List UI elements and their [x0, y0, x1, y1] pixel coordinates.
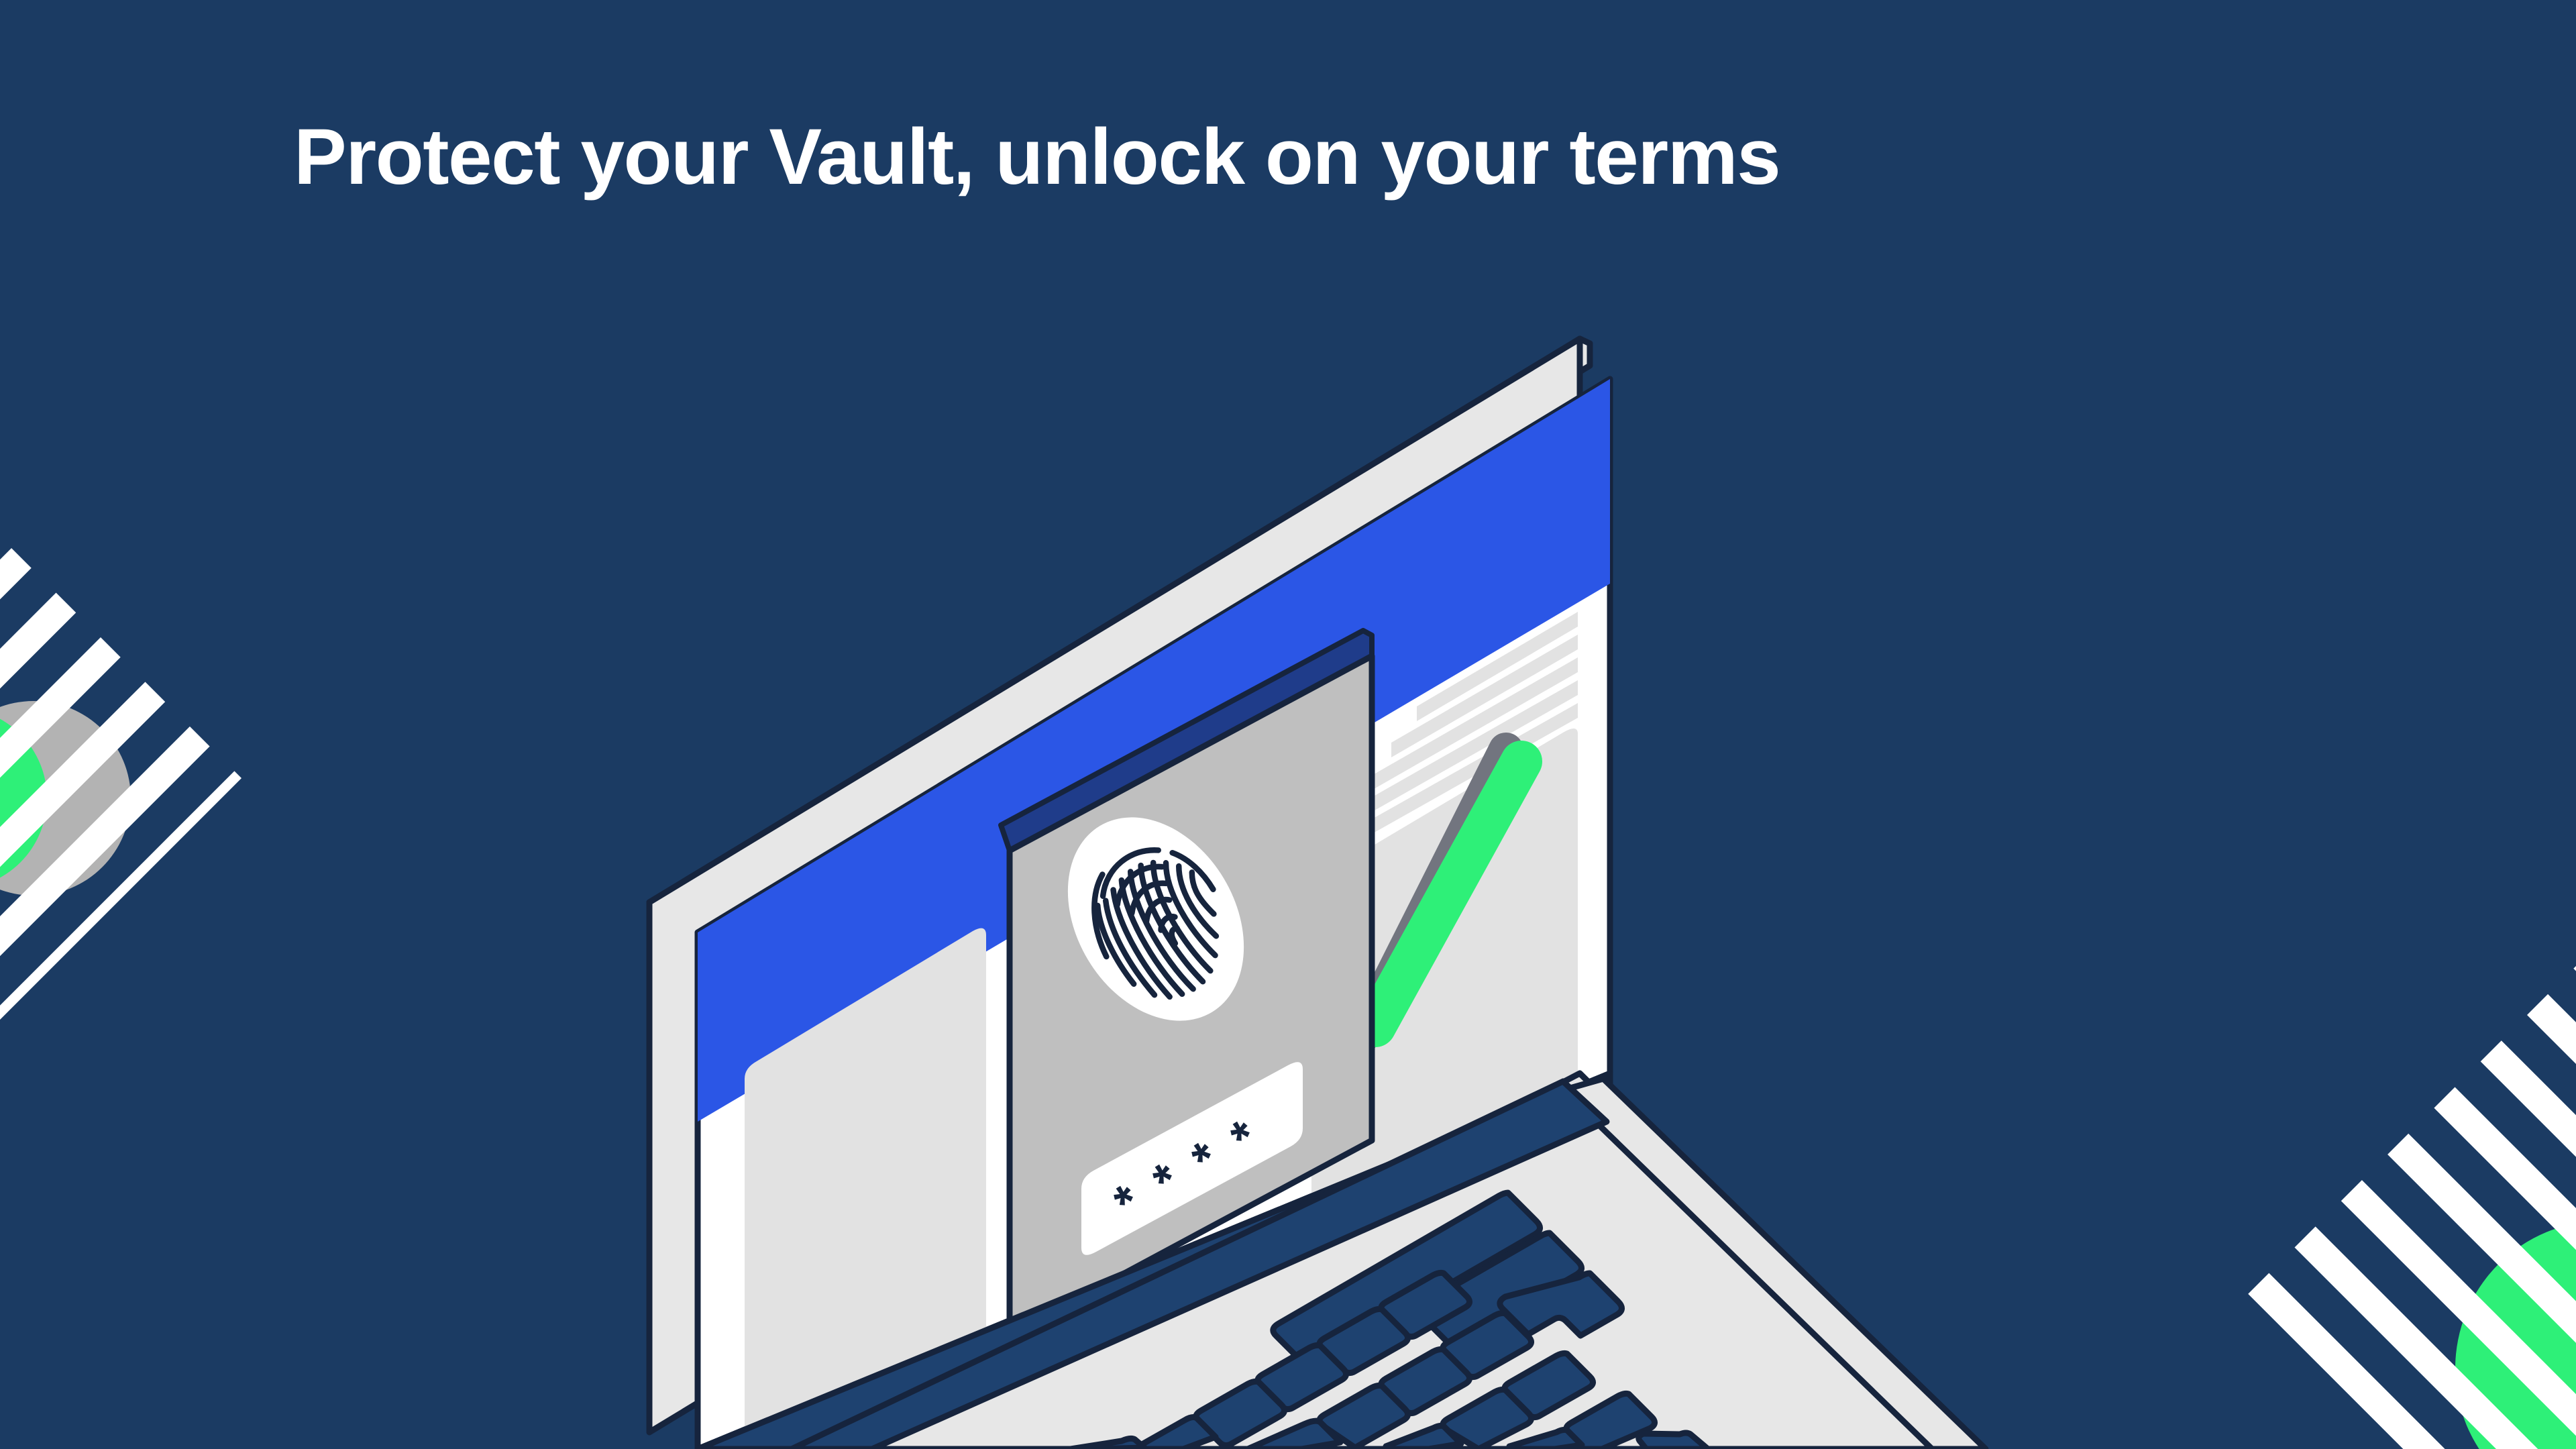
page-canvas: * * * * — [0, 0, 2576, 1449]
page-title: Protect your Vault, unlock on your terms — [294, 113, 1780, 201]
laptop-illustration: * * * * — [0, 0, 2576, 1449]
